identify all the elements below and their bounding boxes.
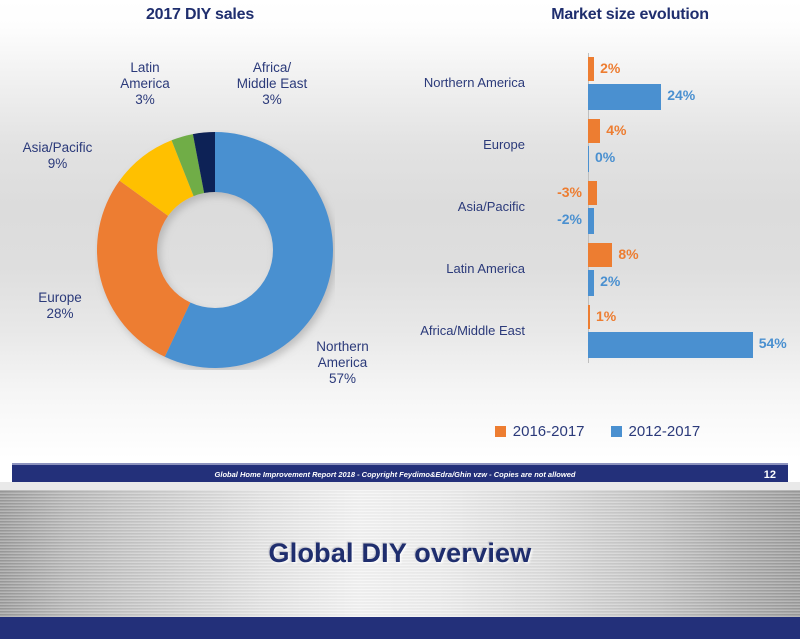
banner-bottom-strip [0, 617, 800, 639]
bar-chart-row: Northern America2%24% [400, 53, 795, 115]
legend-label: 2016-2017 [513, 423, 585, 440]
donut-label-northern-america: NorthernAmerica57% [295, 339, 390, 387]
donut-label-africa-middle-east: Africa/Middle East3% [212, 60, 332, 108]
bar-category-label: Africa/Middle East [400, 323, 525, 338]
bar-value-label: 1% [596, 308, 616, 324]
slide-page-number: 12 [764, 469, 776, 481]
bar-chart-row: Africa/Middle East1%54% [400, 301, 795, 363]
bar-series2 [588, 332, 753, 358]
donut-chart [95, 130, 335, 370]
bar-chart-row: Latin America8%2% [400, 239, 795, 301]
legend-swatch-icon [495, 426, 506, 437]
slide-canvas: 2017 DIY sales Market size evolution Lat… [0, 0, 800, 459]
bar-series1 [588, 57, 594, 81]
bar-value-label: 0% [595, 149, 615, 165]
donut-chart-title: 2017 DIY sales [0, 6, 400, 24]
footer-copyright-text: Global Home Improvement Report 2018 - Co… [62, 470, 728, 479]
donut-label-europe: Europe28% [15, 290, 105, 322]
bar-category-label: Latin America [400, 261, 525, 276]
label-line: 3% [100, 92, 190, 108]
bar-series1 [588, 119, 600, 143]
bar-series2 [588, 208, 594, 234]
bar-category-label: Asia/Pacific [400, 199, 525, 214]
bar-plot-area: -3%-2% [530, 177, 795, 239]
bar-value-label: 2% [600, 273, 620, 289]
bar-value-label: 24% [667, 87, 695, 103]
bar-series2 [588, 270, 594, 296]
label-line: 3% [212, 92, 332, 108]
bar-plot-area: 2%24% [530, 53, 795, 115]
donut-chart-svg [95, 130, 335, 370]
legend-item[interactable]: 2012-2017 [611, 423, 701, 440]
banner-gap [0, 482, 800, 490]
label-line: Europe [15, 290, 105, 306]
bar-plot-area: 1%54% [530, 301, 795, 363]
legend-label: 2012-2017 [629, 423, 701, 440]
bar-chart-title: Market size evolution [430, 6, 800, 24]
bar-category-label: Europe [400, 137, 525, 152]
bar-chart-row: Europe4%0% [400, 115, 795, 177]
bar-series2 [588, 84, 661, 110]
donut-label-asia-pacific: Asia/Pacific9% [5, 140, 110, 172]
bar-series1 [588, 305, 590, 329]
slide-footer-bar: Global Home Improvement Report 2018 - Co… [12, 463, 788, 484]
bar-chart: Northern America2%24%Europe4%0%Asia/Paci… [400, 45, 795, 405]
bar-plot-area: 8%2% [530, 239, 795, 301]
section-banner-title: Global DIY overview [269, 538, 532, 569]
label-line: 28% [15, 306, 105, 322]
donut-slice-europe [97, 181, 190, 357]
bar-chart-legend: 2016-20172012-2017 [400, 423, 795, 440]
label-line: Northern [295, 339, 390, 355]
legend-item[interactable]: 2016-2017 [495, 423, 585, 440]
bar-value-label: -3% [557, 184, 582, 200]
donut-slices [97, 132, 333, 368]
bar-chart-row: Asia/Pacific-3%-2% [400, 177, 795, 239]
bar-value-label: 8% [618, 246, 638, 262]
label-line: Africa/ [212, 60, 332, 76]
label-line: Middle East [212, 76, 332, 92]
bar-series2 [588, 146, 589, 172]
label-line: 57% [295, 371, 390, 387]
bar-plot-area: 4%0% [530, 115, 795, 177]
bar-value-label: 4% [606, 122, 626, 138]
label-line: 9% [5, 156, 110, 172]
label-line: America [295, 355, 390, 371]
legend-swatch-icon [611, 426, 622, 437]
donut-label-latin-america: LatinAmerica3% [100, 60, 190, 108]
section-banner: Global DIY overview [0, 490, 800, 617]
bar-series1 [588, 243, 612, 267]
bar-value-label: 54% [759, 335, 787, 351]
label-line: Asia/Pacific [5, 140, 110, 156]
bar-category-label: Northern America [400, 75, 525, 90]
bar-series1 [588, 181, 597, 205]
label-line: Latin [100, 60, 190, 76]
label-line: America [100, 76, 190, 92]
bar-value-label: 2% [600, 60, 620, 76]
bar-value-label: -2% [557, 211, 582, 227]
